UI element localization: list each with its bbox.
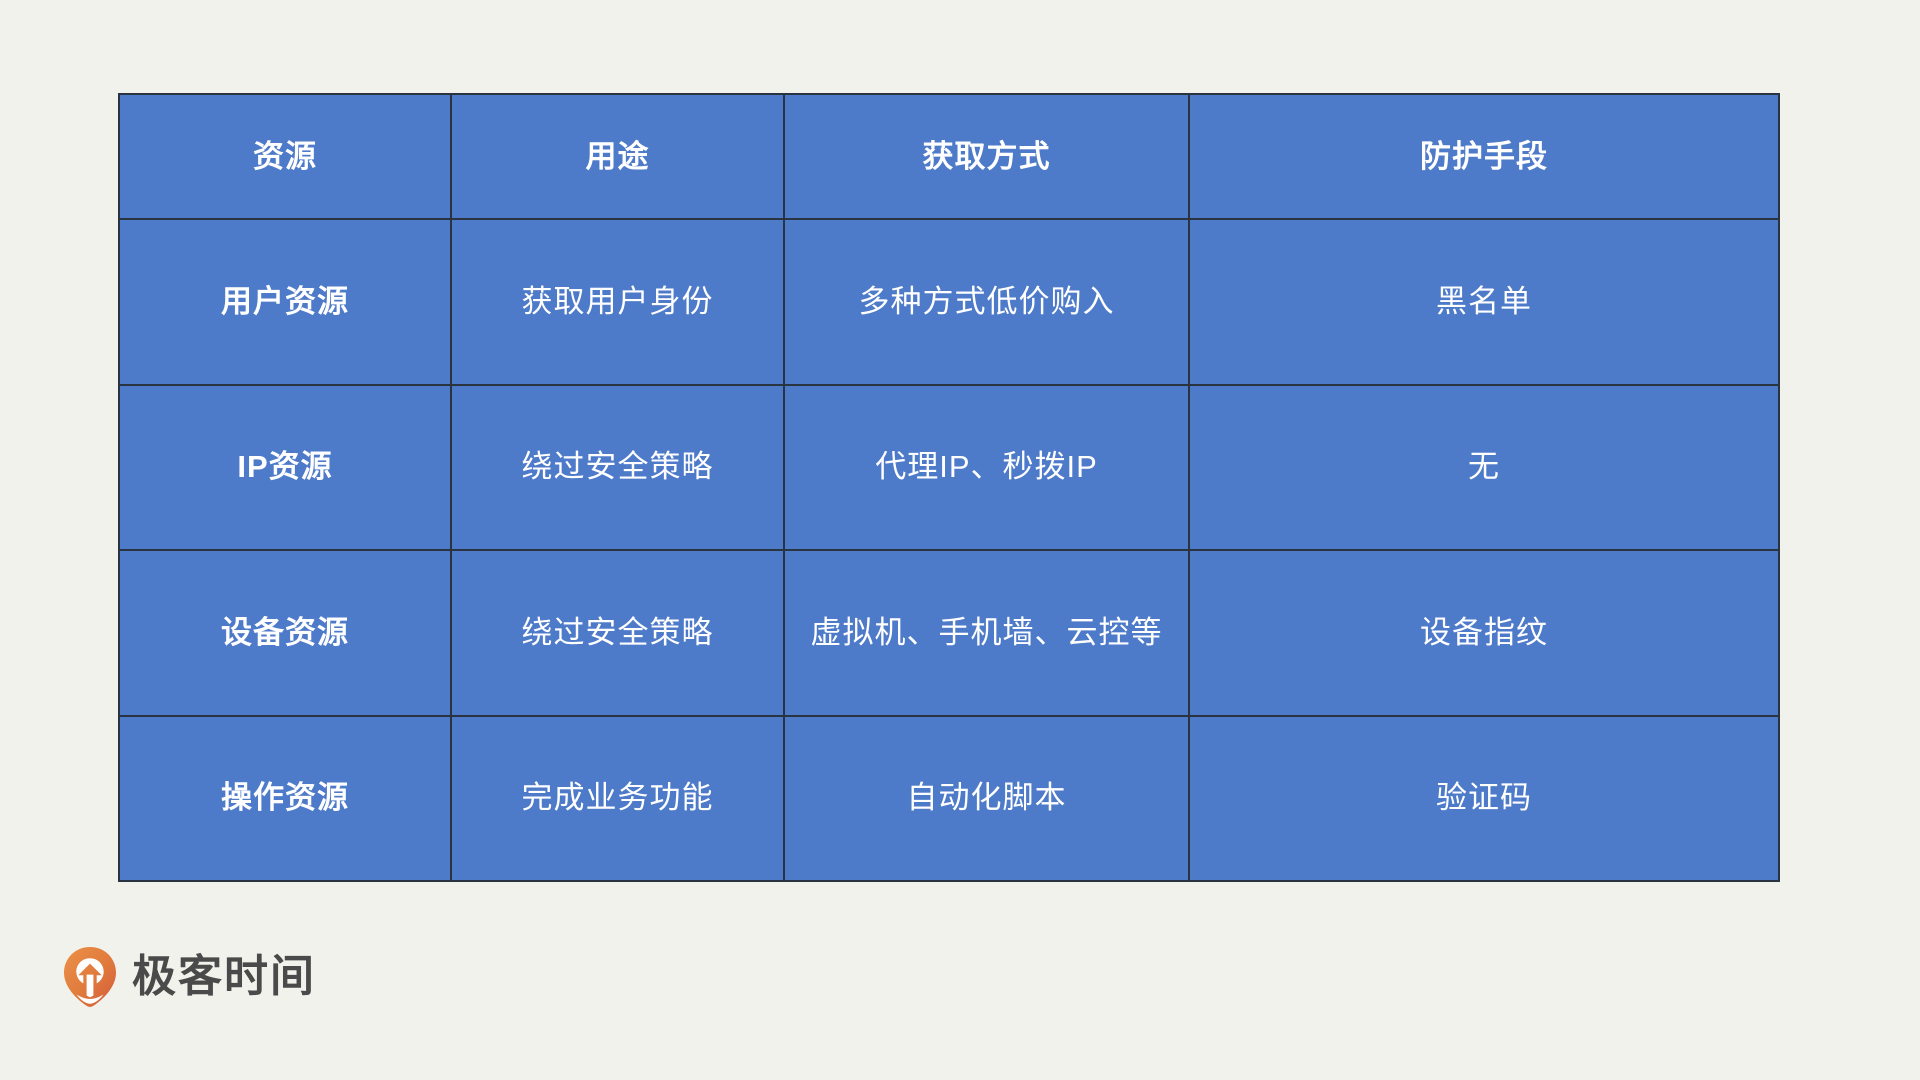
slide-canvas: 资源 用途 获取方式 防护手段 用户资源 获取用户身份 多种方式低价购入 黑名单… (0, 0, 1920, 1080)
table-row: 操作资源 完成业务功能 自动化脚本 验证码 (119, 716, 1779, 882)
cell-resource: IP资源 (119, 385, 451, 551)
table-row: 用户资源 获取用户身份 多种方式低价购入 黑名单 (119, 219, 1779, 385)
cell-acquisition: 代理IP、秒拨IP (784, 385, 1189, 551)
table-header: 资源 用途 获取方式 防护手段 (119, 94, 1779, 219)
resource-table-container: 资源 用途 获取方式 防护手段 用户资源 获取用户身份 多种方式低价购入 黑名单… (118, 93, 1778, 882)
table-row: IP资源 绕过安全策略 代理IP、秒拨IP 无 (119, 385, 1779, 551)
column-header-acquisition: 获取方式 (784, 94, 1189, 219)
table-body: 用户资源 获取用户身份 多种方式低价购入 黑名单 IP资源 绕过安全策略 代理I… (119, 219, 1779, 881)
cell-acquisition: 虚拟机、手机墙、云控等 (784, 550, 1189, 716)
cell-acquisition: 多种方式低价购入 (784, 219, 1189, 385)
column-header-purpose: 用途 (451, 94, 784, 219)
geektime-logo-icon (62, 945, 118, 1009)
column-header-resource: 资源 (119, 94, 451, 219)
brand-logo-text: 极客时间 (132, 955, 316, 999)
cell-resource: 设备资源 (119, 550, 451, 716)
cell-resource: 操作资源 (119, 716, 451, 882)
table-row: 设备资源 绕过安全策略 虚拟机、手机墙、云控等 设备指纹 (119, 550, 1779, 716)
cell-purpose: 绕过安全策略 (451, 550, 784, 716)
cell-defense: 黑名单 (1189, 219, 1779, 385)
table-header-row: 资源 用途 获取方式 防护手段 (119, 94, 1779, 219)
cell-defense: 无 (1189, 385, 1779, 551)
cell-purpose: 完成业务功能 (451, 716, 784, 882)
cell-defense: 设备指纹 (1189, 550, 1779, 716)
cell-purpose: 获取用户身份 (451, 219, 784, 385)
cell-resource: 用户资源 (119, 219, 451, 385)
cell-acquisition: 自动化脚本 (784, 716, 1189, 882)
brand-logo: 极客时间 (62, 945, 316, 1009)
cell-purpose: 绕过安全策略 (451, 385, 784, 551)
resource-table: 资源 用途 获取方式 防护手段 用户资源 获取用户身份 多种方式低价购入 黑名单… (118, 93, 1780, 882)
column-header-defense: 防护手段 (1189, 94, 1779, 219)
cell-defense: 验证码 (1189, 716, 1779, 882)
